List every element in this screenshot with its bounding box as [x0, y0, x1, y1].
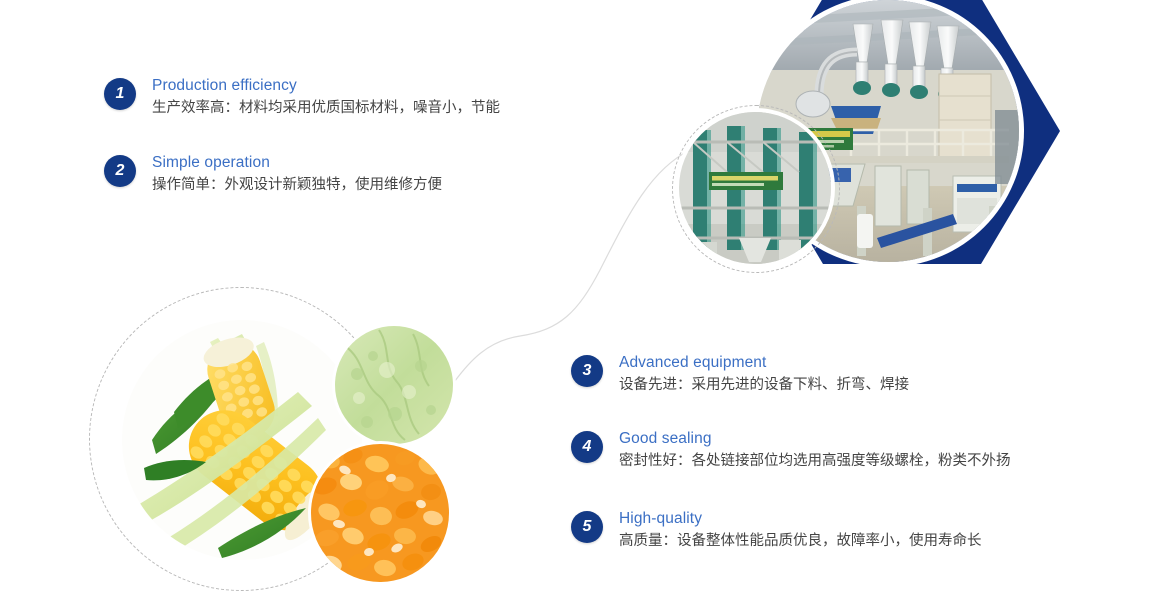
feature-number-badge: 2: [104, 155, 136, 187]
feature-text: Good sealing 密封性好：各处链接部位均选用高强度等级螺栓，粉类不外扬: [619, 429, 1011, 472]
feature-text: Production efficiency 生产效率高：材料均采用优质国标材料，…: [152, 76, 500, 119]
feature-heading: Production efficiency: [152, 76, 500, 96]
feature-body: 生产效率高：材料均采用优质国标材料，噪音小，节能: [152, 97, 500, 119]
feature-highlights-page: 1 Production efficiency 生产效率高：材料均采用优质国标材…: [0, 0, 1154, 591]
feature-item-4[interactable]: 4 Good sealing 密封性好：各处链接部位均选用高强度等级螺栓，粉类不…: [571, 429, 1011, 472]
feature-item-5[interactable]: 5 High-quality 高质量：设备整体性能品质优良，故障率小，使用寿命长: [571, 509, 982, 552]
feature-number-badge: 5: [571, 511, 603, 543]
feature-heading: Simple operation: [152, 153, 442, 173]
feature-text: Advanced equipment 设备先进：采用先进的设备下料、折弯、焊接: [619, 353, 909, 396]
feature-number-badge: 4: [571, 431, 603, 463]
feature-text: High-quality 高质量：设备整体性能品质优良，故障率小，使用寿命长: [619, 509, 982, 552]
feature-text: Simple operation 操作简单：外观设计新颖独特，使用维修方便: [152, 153, 442, 196]
feature-body: 操作简单：外观设计新颖独特，使用维修方便: [152, 174, 442, 196]
feature-heading: Good sealing: [619, 429, 1011, 449]
feature-heading: Advanced equipment: [619, 353, 909, 373]
feature-number-badge: 1: [104, 78, 136, 110]
feature-item-2[interactable]: 2 Simple operation 操作简单：外观设计新颖独特，使用维修方便: [104, 153, 442, 196]
feature-body: 密封性好：各处链接部位均选用高强度等级螺栓，粉类不外扬: [619, 450, 1011, 472]
feature-number-badge: 3: [571, 355, 603, 387]
feature-body: 设备先进：采用先进的设备下料、折弯、焊接: [619, 374, 909, 396]
feature-heading: High-quality: [619, 509, 982, 529]
feature-item-1[interactable]: 1 Production efficiency 生产效率高：材料均采用优质国标材…: [104, 76, 500, 119]
corn-grits-photo: [311, 444, 449, 582]
corn-paste-photo: [335, 326, 453, 444]
green-milling-equipment-photo: [679, 112, 831, 264]
feature-body: 高质量：设备整体性能品质优良，故障率小，使用寿命长: [619, 530, 982, 552]
feature-item-3[interactable]: 3 Advanced equipment 设备先进：采用先进的设备下料、折弯、焊…: [571, 353, 909, 396]
